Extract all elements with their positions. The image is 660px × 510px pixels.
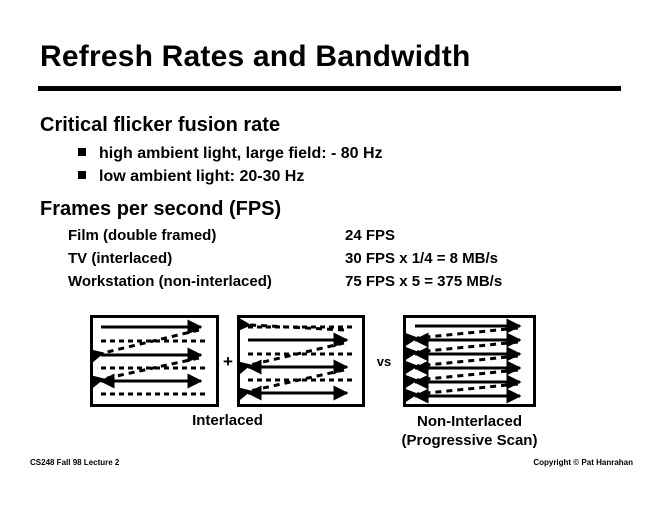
table-cell-label: TV (interlaced) [68, 250, 345, 267]
bullet-label: high ambient light, large field: - 80 Hz [99, 145, 383, 163]
operator-vs: vs [365, 354, 403, 369]
operator-plus: + [219, 352, 237, 372]
table-cell-value: 75 FPS x 5 = 375 MB/s [345, 273, 502, 290]
caption-progressive-line1: Non-Interlaced [383, 412, 556, 431]
caption-progressive-line2: (Progressive Scan) [383, 431, 556, 450]
table-cell-value: 30 FPS x 1/4 = 8 MB/s [345, 250, 498, 267]
section-heading-fps: Frames per second (FPS) [40, 198, 281, 221]
fps-table: Film (double framed) 24 FPS TV (interlac… [68, 227, 502, 296]
bullet-label: low ambient light: 20-30 Hz [99, 168, 304, 186]
footer-copyright: Copyright © Pat Hanrahan [533, 458, 633, 467]
even-field-scan-box [237, 315, 365, 407]
scan-pattern-diagram: + [0, 305, 660, 455]
slide-canvas: Refresh Rates and Bandwidth Critical fli… [0, 0, 660, 510]
table-cell-label: Film (double framed) [68, 227, 345, 244]
caption-interlaced: Interlaced [90, 412, 365, 429]
square-bullet-icon [78, 171, 86, 179]
table-row: Workstation (non-interlaced) 75 FPS x 5 … [68, 273, 502, 296]
bullet-item: high ambient light, large field: - 80 Hz [78, 145, 383, 163]
table-row: TV (interlaced) 30 FPS x 1/4 = 8 MB/s [68, 250, 502, 273]
square-bullet-icon [78, 148, 86, 156]
title-divider [38, 86, 621, 91]
bullet-item: low ambient light: 20-30 Hz [78, 168, 304, 186]
odd-field-scan-box [90, 315, 219, 407]
footer-course-label: CS248 Fall 98 Lecture 2 [30, 458, 119, 467]
page-title: Refresh Rates and Bandwidth [40, 40, 470, 74]
table-cell-value: 24 FPS [345, 227, 395, 244]
odd-field-scan-svg [93, 318, 216, 404]
caption-progressive: Non-Interlaced (Progressive Scan) [383, 412, 556, 450]
table-row: Film (double framed) 24 FPS [68, 227, 502, 250]
progressive-scan-box [403, 315, 536, 407]
section-heading-flicker: Critical flicker fusion rate [40, 114, 280, 137]
table-cell-label: Workstation (non-interlaced) [68, 273, 345, 290]
even-field-scan-svg [240, 318, 362, 404]
progressive-scan-svg [406, 318, 533, 404]
